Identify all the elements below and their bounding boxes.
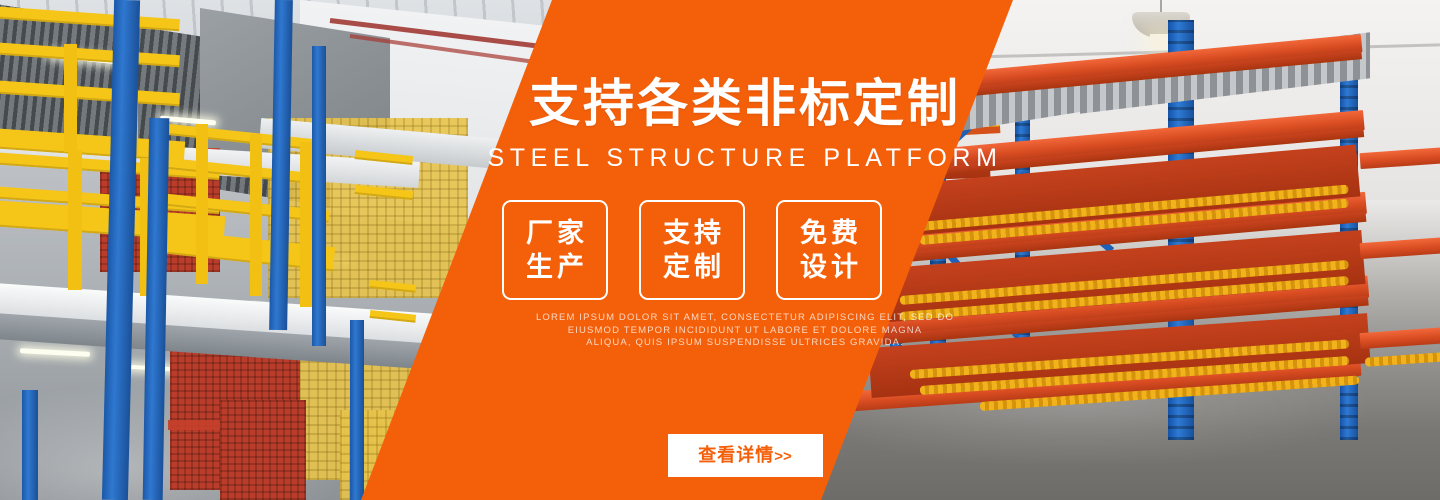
badge-line-2: 定制 [659,250,725,284]
cta-arrows-icon: >> [774,448,792,465]
badge-line-1: 支持 [659,216,725,250]
page-title: 支持各类非标定制 [0,75,1440,133]
badge-free-design: 免费 设计 [776,200,882,300]
badge-line-1: 厂家 [522,216,588,250]
badge-line-1: 免费 [796,216,862,250]
badge-manufacturer-production: 厂家 生产 [502,200,608,300]
description-line-3: ALIQUA, QUIS IPSUM SUSPENDISSE ULTRICES … [50,337,1440,350]
badge-line-2: 生产 [522,250,588,284]
view-details-button[interactable]: 查看详情>> [668,434,823,477]
badge-supports-customization: 支持 定制 [639,200,745,300]
description-line-2: EIUSMOD TEMPOR INCIDIDUNT UT LABORE ET D… [50,325,1440,338]
description-text: LOREM IPSUM DOLOR SIT AMET, CONSECTETUR … [0,312,1440,350]
badge-line-2: 设计 [796,250,862,284]
description-line-1: LOREM IPSUM DOLOR SIT AMET, CONSECTETUR … [50,312,1440,325]
promo-banner: 支持各类非标定制 STEEL STRUCTURE PLATFORM 厂家 生产 … [0,0,1440,500]
cta-container: 查看详情>> [0,434,1440,477]
feature-badges: 厂家 生产 支持 定制 免费 设计 [502,200,882,300]
banner-content: 支持各类非标定制 STEEL STRUCTURE PLATFORM 厂家 生产 … [0,0,1440,500]
cta-label: 查看详情 [698,445,774,465]
subtitle: STEEL STRUCTURE PLATFORM [0,143,1440,173]
